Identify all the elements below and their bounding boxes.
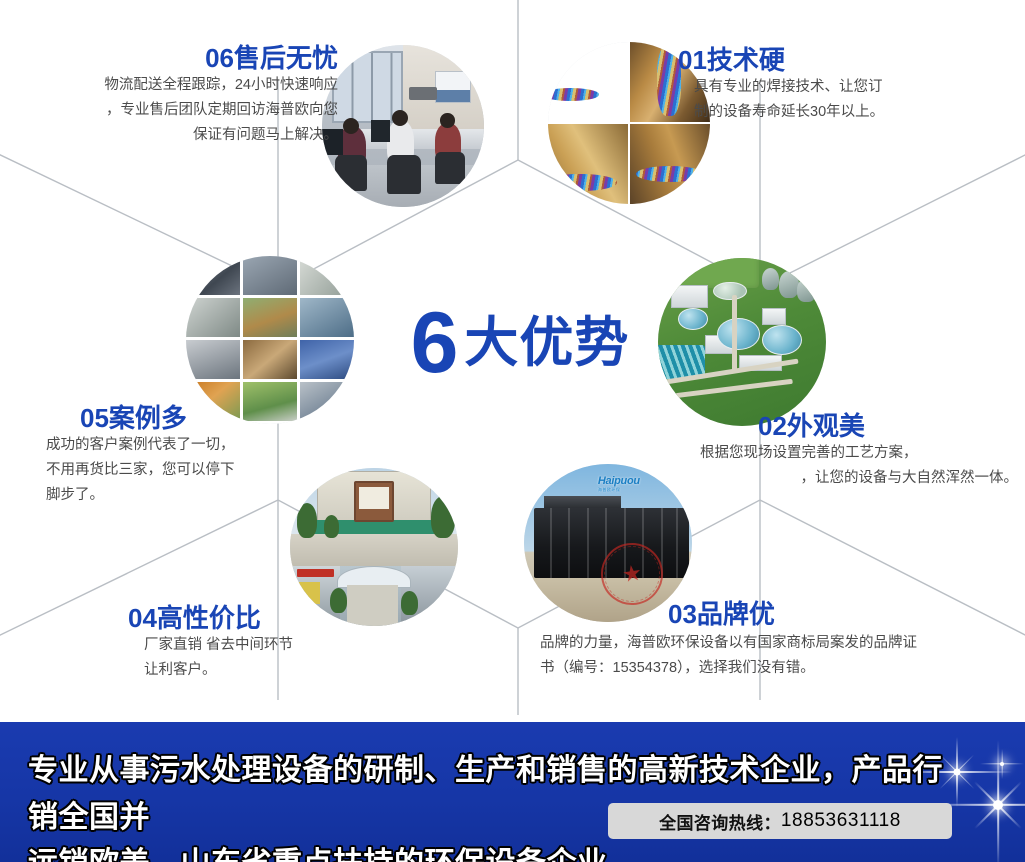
advantage-body-line: 品牌的力量，海普欧环保设备以有国家商标局案发的品牌证: [540, 631, 960, 656]
hotline-badge[interactable]: 全国咨询热线：18853631118: [608, 803, 952, 839]
advantage-body-line: 成功的客户案例代表了一切，: [46, 433, 340, 458]
hotline-label: 全国咨询热线：: [659, 809, 781, 834]
infographic-root: 6 大优势: [0, 0, 1025, 862]
advantage-block-06: 06售后无忧 物流配送全程跟踪，24小时快速响应 ，专业售后团队定期回访海普欧向…: [8, 44, 338, 149]
equipment-watermark: Haipuou 海普欧环保: [598, 475, 640, 493]
center-label-text: 大优势: [464, 316, 629, 370]
banner-line-2: 远销欧美，山东省重点扶持的环保设备企业。: [28, 841, 958, 862]
hotline-number: 18853631118: [781, 810, 901, 832]
sparkle-icon: [1000, 762, 1003, 765]
equipment-watermark-text: Haipuou: [598, 475, 640, 487]
advantage-body-06: 物流配送全程跟踪，24小时快速响应 ，专业售后团队定期回访海普欧向您 保证有问题…: [8, 73, 338, 149]
advantage-body-line: 物流配送全程跟踪，24小时快速响应: [8, 73, 338, 98]
equipment-tank-photo: Haipuou 海普欧环保 ★: [524, 464, 692, 622]
advantage-title-03: 03品牌优: [540, 600, 960, 629]
advantage-body-04: 厂家直销 省去中间环节 让利客户。: [128, 633, 448, 684]
advantage-body-line: 保证有问题马上解决。: [8, 123, 338, 148]
advantage-body-line: 不用再货比三家，您可以停下: [46, 458, 340, 483]
advantage-body-03: 品牌的力量，海普欧环保设备以有国家商标局案发的品牌证 书（编号：15354378…: [540, 631, 960, 682]
equipment-watermark-sub: 海普欧环保: [598, 487, 640, 493]
center-number: 6: [411, 300, 457, 386]
sparkle-icon: [995, 802, 1000, 807]
advantage-body-line: 脚步了。: [46, 483, 340, 508]
advantage-body-line: 制的设备寿命延长30年以上。: [694, 100, 1008, 125]
advantage-body-line: ，让您的设备与大自然浑然一体。: [700, 466, 1018, 491]
advantage-block-02: 02外观美 根据您现场设置完善的工艺方案， ，让您的设备与大自然浑然一体。: [700, 412, 1018, 491]
advantage-body-line: ，专业售后团队定期回访海普欧向您: [8, 98, 338, 123]
office-staff-photo: [322, 45, 484, 207]
center-headline: 6 大优势: [395, 288, 645, 398]
advantage-title-05: 05案例多: [30, 404, 340, 433]
advantage-block-05: 05案例多 成功的客户案例代表了一切， 不用再货比三家，您可以停下 脚步了。: [30, 404, 340, 509]
advantage-body-line: 具有专业的焊接技术、让您订: [694, 75, 1008, 100]
case-collage-photo: [186, 256, 354, 424]
advantage-block-03: 03品牌优 品牌的力量，海普欧环保设备以有国家商标局案发的品牌证 书（编号：15…: [540, 600, 960, 681]
aerial-treatment-plant-photo: [658, 258, 826, 426]
advantage-title-01: 01技术硬: [678, 46, 1008, 75]
advantage-body-line: 让利客户。: [144, 658, 448, 683]
advantage-body-02: 根据您现场设置完善的工艺方案， ，让您的设备与大自然浑然一体。: [700, 441, 1018, 492]
advantage-block-04: 04高性价比 厂家直销 省去中间环节 让利客户。: [128, 604, 448, 683]
bottom-banner: 专业从事污水处理设备的研制、生产和销售的高新技术企业，产品行销全国并 远销欧美，…: [0, 722, 1025, 862]
advantage-body-01: 具有专业的焊接技术、让您订 制的设备寿命延长30年以上。: [678, 75, 1008, 126]
advantage-body-line: 根据您现场设置完善的工艺方案，: [700, 441, 1018, 466]
advantage-title-02: 02外观美: [700, 412, 1018, 441]
advantage-block-01: 01技术硬 具有专业的焊接技术、让您订 制的设备寿命延长30年以上。: [678, 46, 1008, 125]
advantage-title-04: 04高性价比: [128, 604, 448, 633]
advantage-body-line: 厂家直销 省去中间环节: [144, 633, 448, 658]
advantage-body-line: 书（编号：15354378），选择我们没有错。: [540, 656, 960, 681]
advantage-title-06: 06售后无忧: [8, 44, 338, 73]
advantage-body-05: 成功的客户案例代表了一切， 不用再货比三家，您可以停下 脚步了。: [30, 433, 340, 509]
